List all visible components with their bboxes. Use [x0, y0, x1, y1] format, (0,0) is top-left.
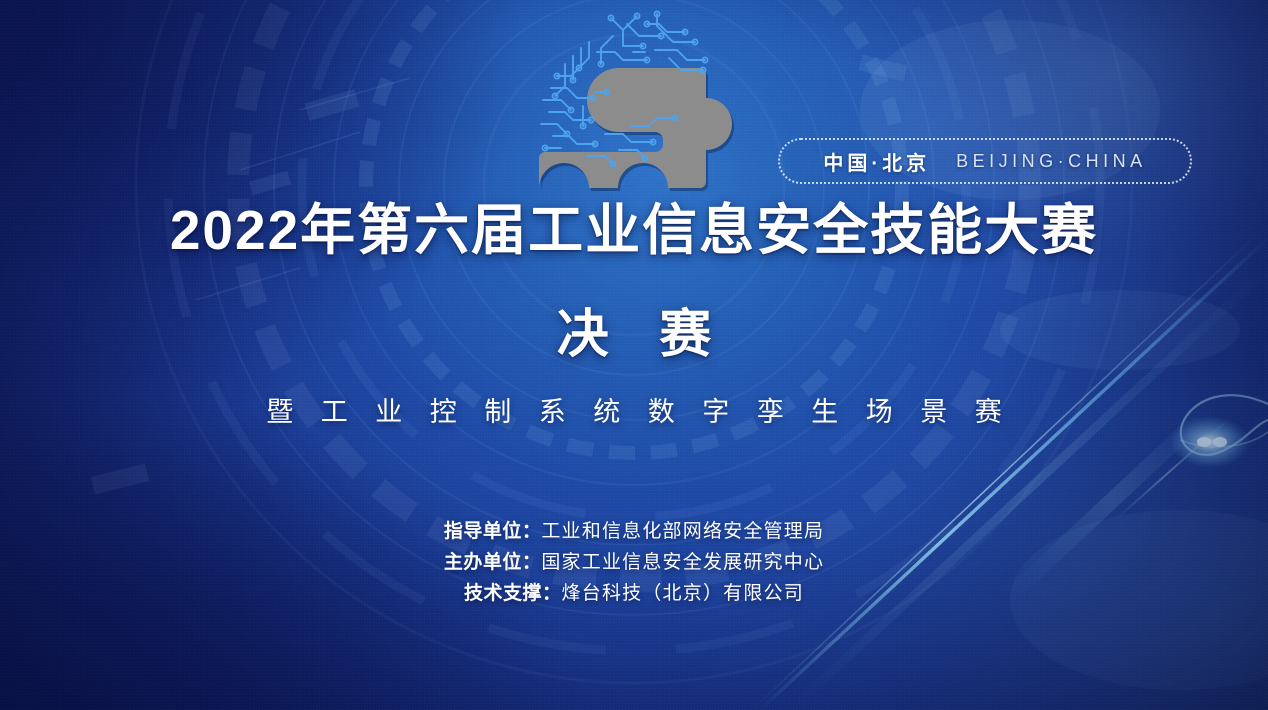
credit-value-organizer: 国家工业信息安全发展研究中心 [541, 552, 824, 573]
credit-label-guidance: 指导单位： [444, 521, 542, 542]
credit-row-guidance: 指导单位：工业和信息化部网络安全管理局 [0, 516, 1268, 547]
gear-circuit-logo-icon [527, 6, 741, 194]
location-badge-english: BEIJING·CHINA [956, 151, 1147, 172]
credit-row-tech-support: 技术支撑：烽台科技（北京）有限公司 [0, 578, 1268, 609]
credit-value-guidance: 工业和信息化部网络安全管理局 [541, 521, 824, 542]
poster-banner: 中国·北京 BEIJING·CHINA 2022年第六届工业信息安全技能大赛 决… [0, 0, 1268, 710]
location-badge: 中国·北京 BEIJING·CHINA [778, 138, 1192, 184]
location-badge-chinese: 中国·北京 [823, 147, 930, 176]
page-subtitle-final: 决 赛 [0, 292, 1268, 367]
credit-row-organizer: 主办单位：国家工业信息安全发展研究中心 [0, 547, 1268, 578]
credits-block: 指导单位：工业和信息化部网络安全管理局 主办单位：国家工业信息安全发展研究中心 … [0, 516, 1268, 609]
page-subtitle-scenario: 暨 工 业 控 制 系 统 数 字 孪 生 场 景 赛 [0, 390, 1268, 429]
page-title: 2022年第六届工业信息安全技能大赛 [0, 202, 1268, 260]
credit-label-organizer: 主办单位： [444, 552, 542, 573]
credit-label-tech-support: 技术支撑： [464, 583, 562, 604]
credit-value-tech-support: 烽台科技（北京）有限公司 [562, 583, 804, 604]
